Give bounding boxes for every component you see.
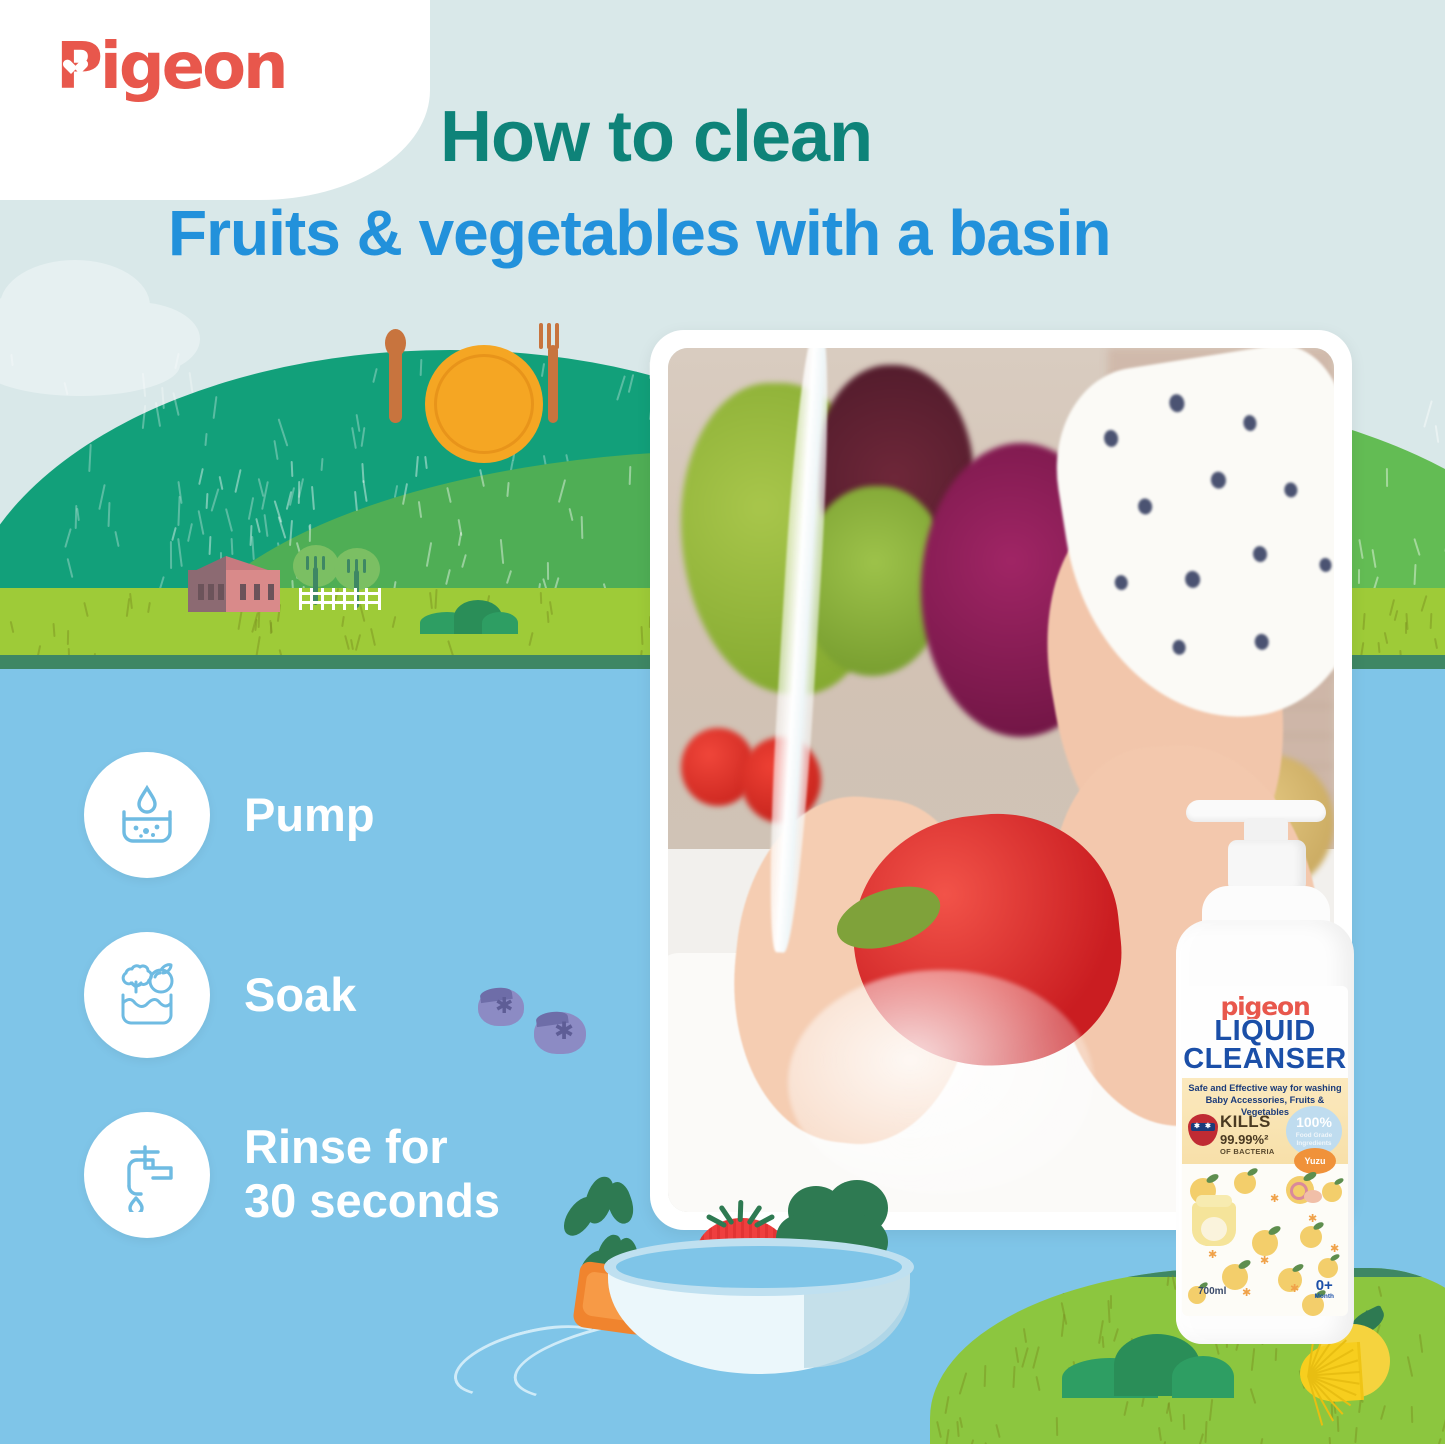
step-label: Soak <box>244 968 356 1022</box>
basin-bowl <box>604 1238 914 1380</box>
sippy-cup-icon <box>1192 1202 1236 1246</box>
kills-label: KILLS <box>1220 1112 1275 1132</box>
product-label: pigeon LIQUID CLEANSER Safe and Effectiv… <box>1182 986 1348 1316</box>
pump-collar <box>1228 840 1306 892</box>
flavour-badge: Yuzu <box>1294 1148 1336 1174</box>
sun-plate-icon <box>425 345 543 463</box>
page-title-line2: Fruits & vegetables with a basin <box>168 196 1110 270</box>
badge-percent: 100% <box>1286 1106 1342 1132</box>
step-label-line2: 30 seconds <box>244 1174 500 1227</box>
product-bottle: pigeon LIQUID CLEANSER Safe and Effectiv… <box>1168 800 1358 1348</box>
step-icon-circle <box>84 1112 210 1238</box>
kills-claim: KILLS 99.99%² OF BACTERIA <box>1220 1112 1275 1156</box>
label-name-line2: CLEANSER <box>1182 1044 1348 1074</box>
step-icon-circle <box>84 752 210 878</box>
badge-sub-line2: Ingredients <box>1286 1140 1342 1148</box>
page-title-line1: How to clean <box>440 96 872 178</box>
step-item-pump: Pump <box>84 752 644 932</box>
bush-icon <box>1062 1334 1234 1394</box>
label-name-line1: LIQUID <box>1182 1016 1348 1046</box>
step-label-line1: Rinse for <box>244 1120 448 1173</box>
label-age-value: 0+ <box>1315 1278 1335 1293</box>
step-icon-circle <box>84 932 210 1058</box>
pigeon-logo: Pigeon <box>56 34 316 100</box>
infographic-canvas: Pigeon How to clean Fruits & vegetables … <box>0 0 1445 1444</box>
label-age-unit: Month <box>1315 1293 1335 1300</box>
basin-droplet-icon <box>110 778 184 852</box>
fork-icon <box>548 345 558 423</box>
pacifier-icon <box>1290 1182 1322 1210</box>
faucet-drop-icon <box>110 1138 184 1212</box>
heart-icon <box>71 60 88 76</box>
logo-wordmark: Pigeon <box>56 30 286 104</box>
step-label: Rinse for 30 seconds <box>244 1120 500 1228</box>
label-tagline-line1: Safe and Effective way for washing <box>1188 1083 1341 1093</box>
spoon-icon <box>389 345 402 423</box>
badge-sub-line1: Food Grade <box>1286 1132 1342 1140</box>
kills-value: 99.99%² <box>1220 1132 1275 1147</box>
fence-icon <box>299 588 381 610</box>
label-age: 0+ Month <box>1315 1278 1335 1300</box>
kills-sub: OF BACTERIA <box>1220 1147 1275 1156</box>
label-volume: 700ml <box>1198 1286 1226 1297</box>
step-label: Pump <box>244 788 375 842</box>
leafy-green-icon <box>556 1176 646 1286</box>
blueberry-icon: ✱ <box>478 988 524 1026</box>
bush-icon <box>420 600 518 632</box>
blueberry-icon: ✱ <box>534 1012 586 1054</box>
farm-house-icon <box>188 556 280 612</box>
vegetables-in-basin-icon <box>109 957 185 1033</box>
